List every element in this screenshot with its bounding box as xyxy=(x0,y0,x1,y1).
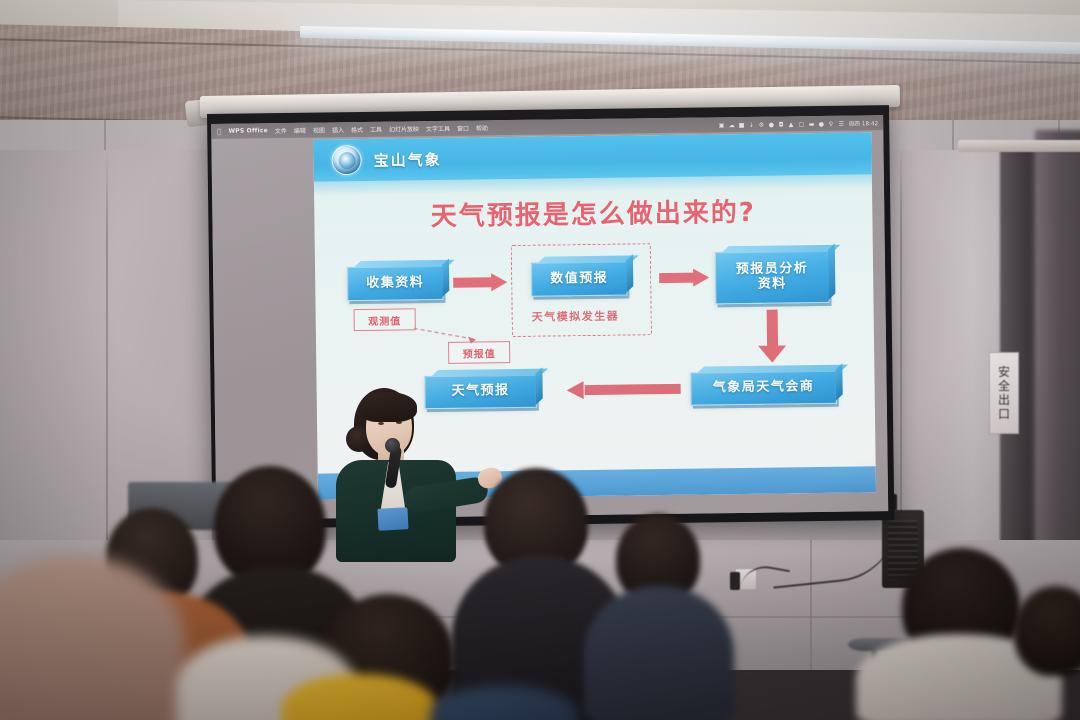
bluetooth-icon[interactable]: ● xyxy=(769,121,775,127)
apple-icon[interactable]:  xyxy=(217,127,221,135)
presenter xyxy=(330,386,510,561)
microphone-head-icon xyxy=(385,438,400,453)
menu-item-tools[interactable]: 工具 xyxy=(370,125,382,134)
cloud-icon[interactable]: ☁ xyxy=(729,122,735,128)
search-icon[interactable]: ⚲ xyxy=(829,120,835,126)
projector-screen:  WPS Office 文件 编辑 视图 插入 格式 工具 幻灯片放映 文字工… xyxy=(207,105,894,529)
curtain-rail xyxy=(958,140,1080,152)
lecture-hall-scene: 安 全 出 口  WPS Office 文件 编辑 视图 插入 格式 xyxy=(0,0,1080,720)
exit-sign-char-3: 出 xyxy=(998,394,1010,406)
gear-icon[interactable]: ⚙ xyxy=(759,121,765,127)
ime-icon[interactable]: ● xyxy=(819,120,825,126)
menu-item-textbox[interactable]: 文字工具 xyxy=(426,124,450,133)
menubar-status-area[interactable]: ▣ ☁ ■ ↓ ⚙ ● ◘ ▲ ▢ ▬ ● ⚲ ☰ 周四 18:42 xyxy=(719,115,879,132)
wifi-icon[interactable]: ▲ xyxy=(789,121,795,127)
volume-icon[interactable]: ◘ xyxy=(779,121,785,127)
menu-item-view[interactable]: 视图 xyxy=(313,125,325,134)
menubar-clock[interactable]: 周四 18:42 xyxy=(849,119,879,127)
menu-item-edit[interactable]: 编辑 xyxy=(294,126,306,135)
menu-item-format[interactable]: 格式 xyxy=(351,125,363,134)
screen-icon[interactable]: ▢ xyxy=(799,121,805,127)
menu-item-help[interactable]: 帮助 xyxy=(476,123,488,132)
menu-item-insert[interactable]: 插入 xyxy=(332,125,344,134)
projected-desktop:  WPS Office 文件 编辑 视图 插入 格式 工具 幻灯片放映 文字工… xyxy=(211,115,888,520)
audience-body xyxy=(584,586,734,720)
download-icon[interactable]: ↓ xyxy=(749,121,755,127)
battery-icon[interactable]: ■ xyxy=(739,121,745,127)
menu-item-file[interactable]: 文件 xyxy=(275,126,287,135)
presenter-badge xyxy=(377,507,408,531)
exit-sign: 安 全 出 口 xyxy=(989,352,1019,434)
exit-sign-char-4: 口 xyxy=(998,408,1010,420)
exit-sign-char-2: 全 xyxy=(998,380,1010,392)
menubar-app-name[interactable]: WPS Office xyxy=(228,127,268,135)
window-curtain xyxy=(1035,130,1080,600)
display-icon[interactable]: ▣ xyxy=(719,122,725,128)
menu-item-slideshow[interactable]: 幻灯片放映 xyxy=(389,124,419,133)
keyboard-icon[interactable]: ▬ xyxy=(809,121,815,127)
projection-surface:  WPS Office 文件 编辑 视图 插入 格式 工具 幻灯片放映 文字工… xyxy=(211,115,888,520)
menu-item-window[interactable]: 窗口 xyxy=(457,124,469,133)
presenter-fringe xyxy=(361,392,417,422)
control-center-icon[interactable]: ☰ xyxy=(839,120,845,126)
presenter-eye-left xyxy=(378,422,384,425)
exit-sign-char-1: 安 xyxy=(998,366,1010,378)
